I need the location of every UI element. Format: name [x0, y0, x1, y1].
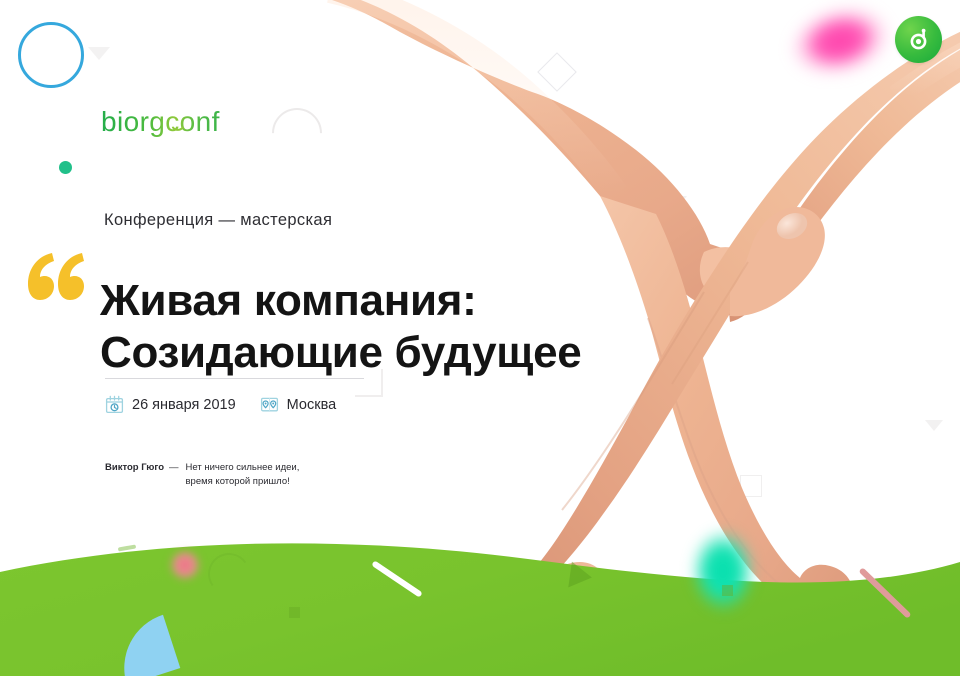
epigraph-author: Виктор Гюго — [105, 461, 164, 475]
g-logo-icon — [906, 27, 932, 53]
biorgconf-logo-icon: biorgconf — [101, 105, 261, 139]
event-date: 26 января 2019 — [105, 395, 236, 414]
event-kicker: Конференция — мастерская — [104, 211, 332, 230]
map-pin-icon — [260, 395, 279, 414]
calendar-clock-icon — [105, 395, 124, 414]
event-location-label: Москва — [287, 397, 337, 413]
brand-badge[interactable] — [895, 16, 942, 63]
svg-text:biorgconf: biorgconf — [101, 106, 220, 137]
epigraph-dash: — — [169, 461, 179, 475]
epigraph-quote: Нет ничего сильнее идеи, время которой п… — [186, 461, 300, 489]
divider — [105, 378, 364, 379]
conference-poster: biorgconf Конференция — мастерская Живая… — [0, 0, 960, 676]
biorgconf-logo[interactable]: biorgconf — [101, 105, 261, 139]
quote-mark-icon — [22, 250, 88, 306]
event-meta: 26 января 2019 Москва — [105, 395, 336, 414]
page-title: Живая компания: Созидающие будущее — [100, 275, 720, 377]
event-date-label: 26 января 2019 — [132, 397, 236, 413]
text-content-column: biorgconf Конференция — мастерская Живая… — [0, 0, 430, 676]
event-location: Москва — [260, 395, 337, 414]
epigraph: Виктор Гюго — Нет ничего сильнее идеи, в… — [105, 461, 299, 489]
